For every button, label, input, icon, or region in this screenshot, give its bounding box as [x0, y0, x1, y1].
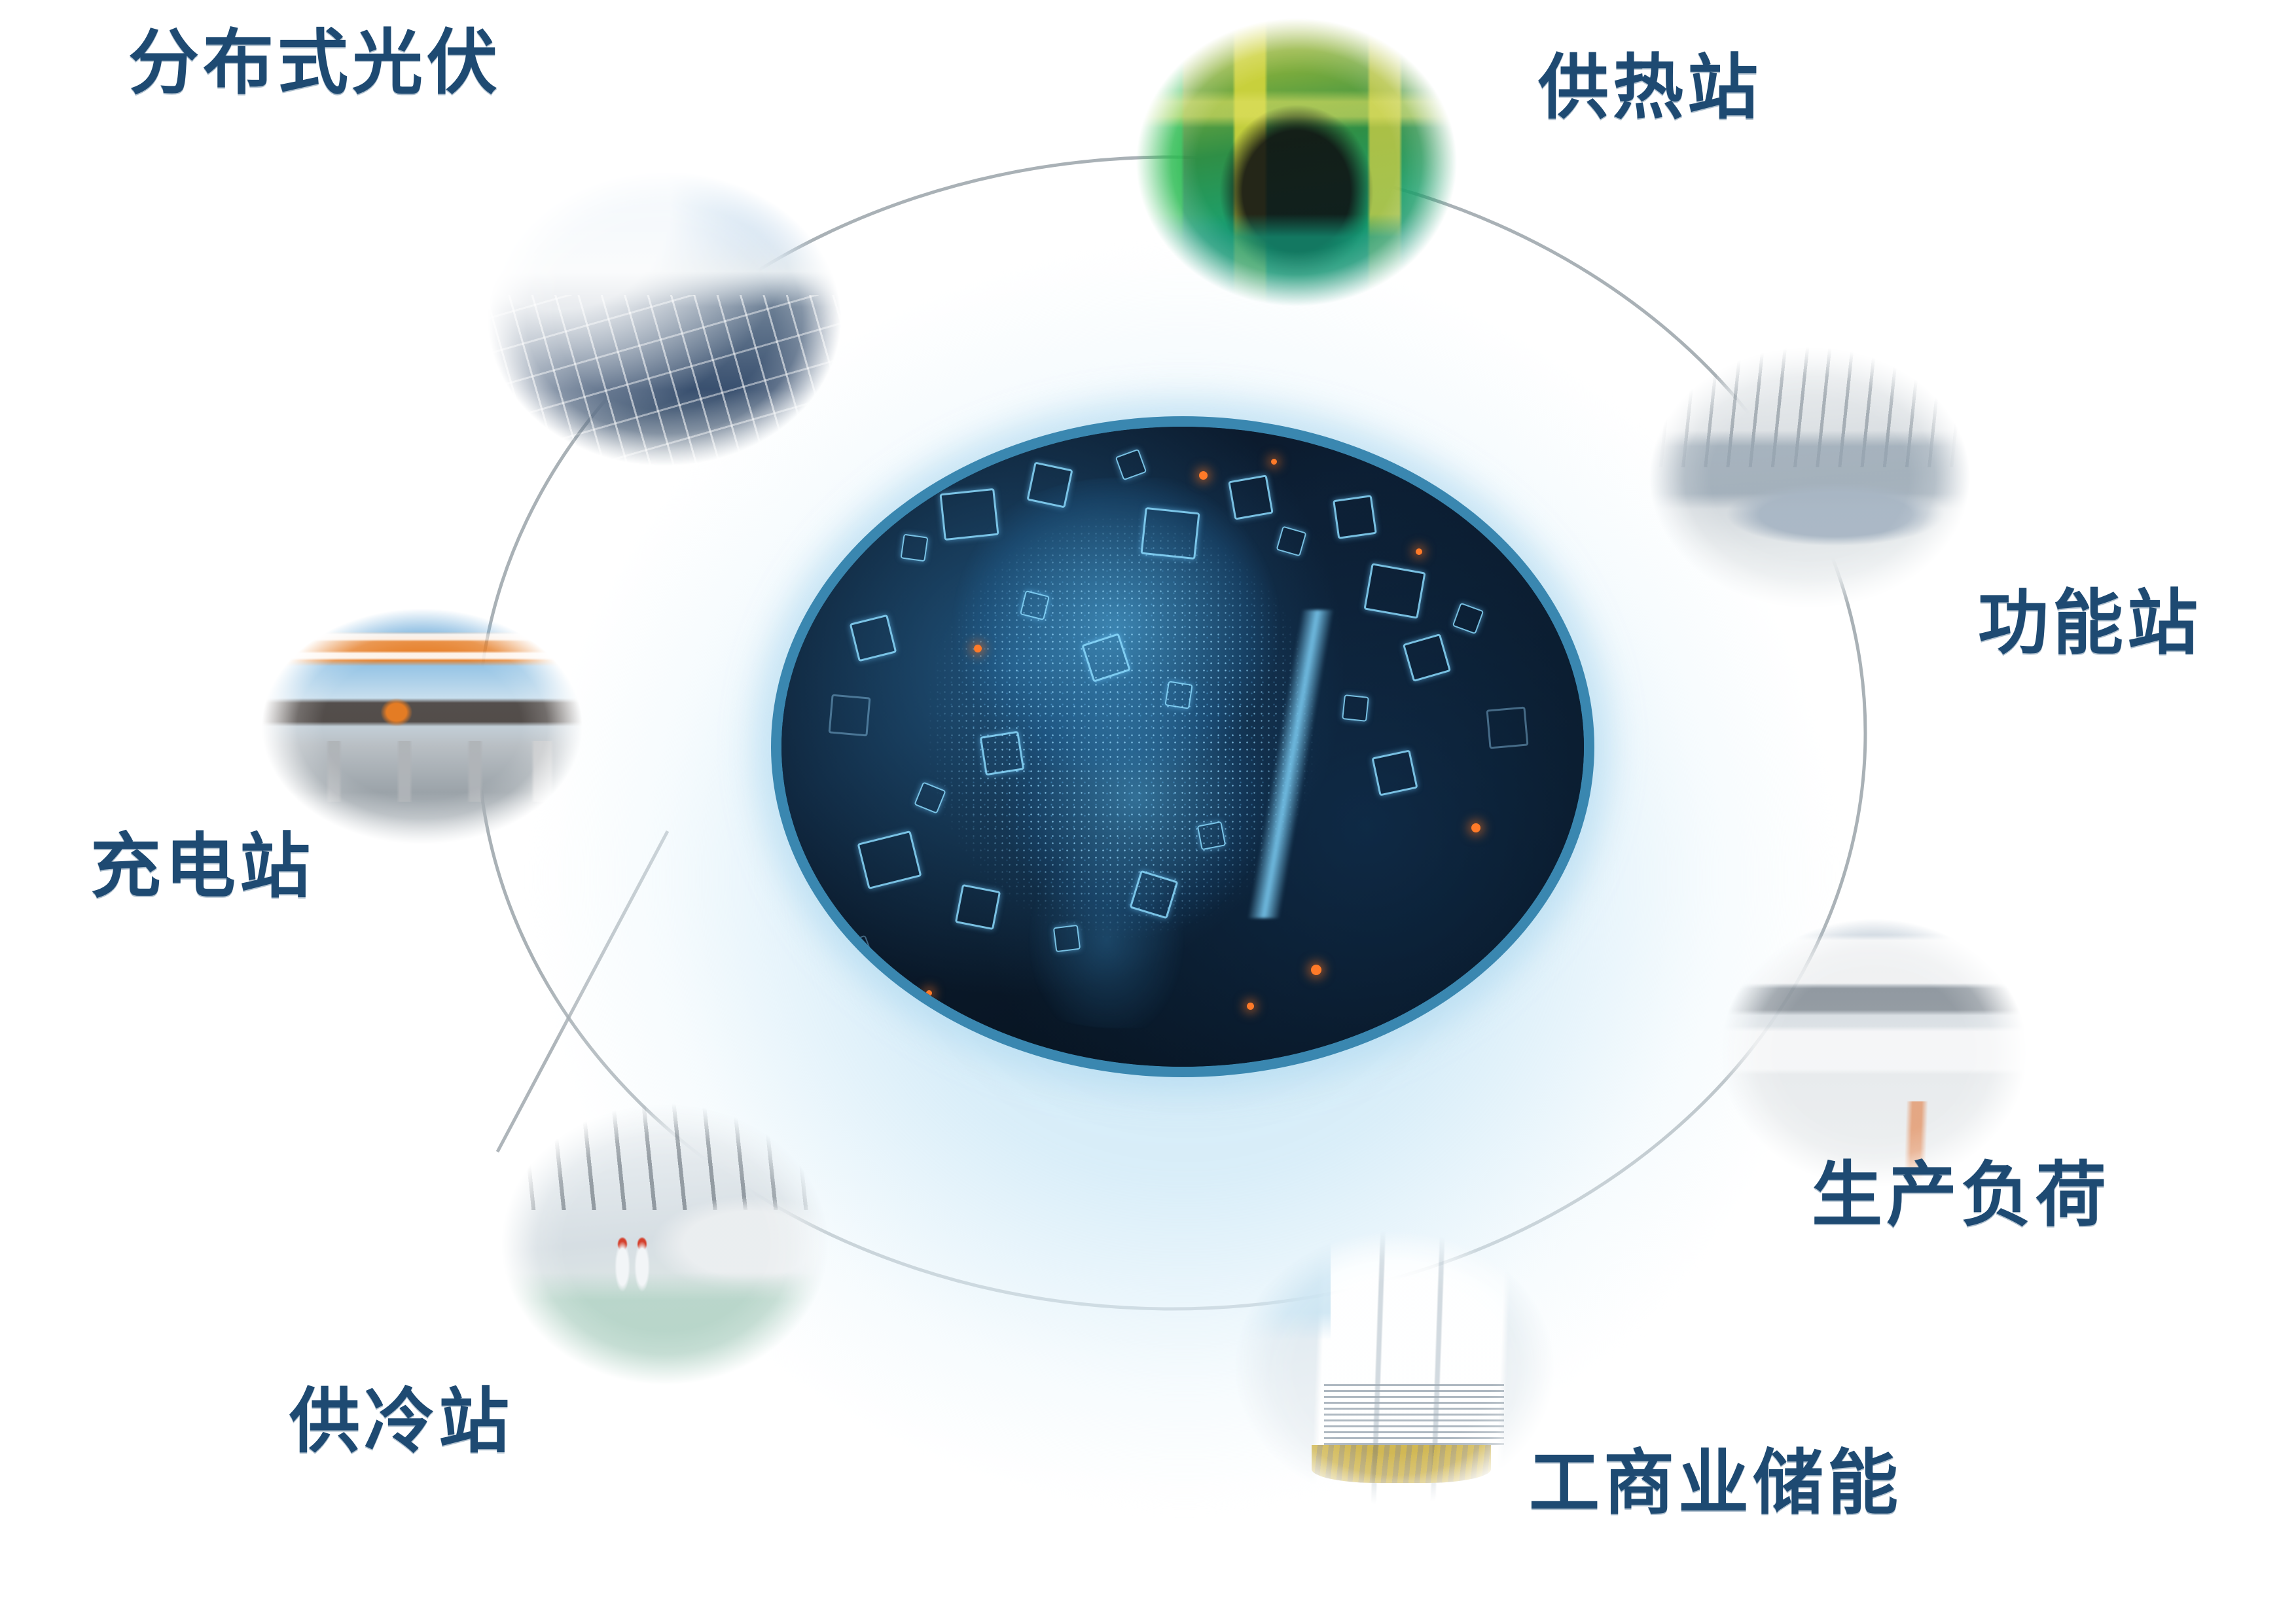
data-glyph-icon	[1140, 507, 1200, 560]
face-profile-highlight	[1216, 610, 1365, 918]
data-glyph-icon	[940, 488, 999, 541]
green-floor	[1136, 18, 1457, 306]
cabinet-louvers	[1324, 1384, 1503, 1444]
photo-aerial-factory-park	[1720, 919, 2028, 1187]
node-production-load[interactable]	[1720, 919, 2028, 1187]
data-glyph-icon	[828, 694, 870, 736]
node-charging-station[interactable]	[262, 609, 583, 844]
label-commercial-storage: 工商业储能	[1529, 1448, 1902, 1518]
ember-particle	[974, 645, 982, 652]
hub-image-inner	[781, 427, 1584, 1067]
data-glyph-icon	[1363, 563, 1426, 618]
data-glyph-icon	[1228, 474, 1274, 520]
wall-panel	[1234, 1230, 1331, 1505]
node-heating-station[interactable]	[1136, 18, 1457, 306]
ember-particle	[1271, 459, 1277, 465]
ai-hub-image	[771, 416, 1594, 1077]
data-glyph-icon	[1053, 925, 1081, 952]
ember-particle	[926, 990, 932, 996]
label-function-station: 功能站	[1978, 588, 2202, 658]
station-logo	[262, 609, 583, 844]
large-pipe	[1649, 347, 1970, 609]
ember-particle	[1199, 471, 1208, 480]
label-heating-station: 供热站	[1538, 52, 1762, 123]
data-glyph-icon	[1333, 495, 1377, 539]
ember-particle	[1311, 965, 1321, 975]
node-commercial-storage[interactable]	[1234, 1230, 1555, 1505]
node-cooling-station[interactable]	[501, 1103, 829, 1385]
photo-industrial-pump-hall	[1649, 347, 1970, 609]
photo-battery-storage-cabinets	[1234, 1230, 1555, 1505]
data-glyph-icon	[955, 884, 1001, 930]
photo-chiller-plant-corridor	[501, 1103, 829, 1385]
data-glyph-icon	[1486, 707, 1528, 749]
node-distributed-pv[interactable]	[488, 171, 841, 466]
data-glyph-icon	[979, 731, 1024, 776]
photo-heat-exchange-plant-room	[1136, 18, 1457, 306]
data-glyph-icon	[900, 534, 928, 562]
node-function-station[interactable]	[1649, 347, 1970, 609]
label-charging-station: 充电站	[90, 831, 314, 902]
label-production-load: 生产负荷	[1812, 1160, 2110, 1230]
ember-particle	[1416, 548, 1422, 555]
data-glyph-icon	[1026, 461, 1073, 508]
yellow-cable-tray	[1312, 1445, 1491, 1484]
photo-ev-charging-canopy	[262, 609, 583, 844]
digital-head	[878, 478, 1375, 1028]
cloud-highlight	[488, 171, 841, 466]
label-cooling-station: 供冷站	[289, 1386, 513, 1457]
data-glyph-icon	[1372, 749, 1418, 796]
data-glyph-icon	[1196, 821, 1226, 851]
label-distributed-pv: 分布式光伏	[128, 27, 501, 98]
data-glyph-icon	[1165, 681, 1193, 709]
workers	[501, 1103, 829, 1385]
diagram-canvas: 分布式光伏 供热站 功能站 生产负荷	[0, 0, 2296, 1623]
photo-rooftop-solar-panels	[488, 171, 841, 466]
data-glyph-icon	[1342, 694, 1369, 722]
